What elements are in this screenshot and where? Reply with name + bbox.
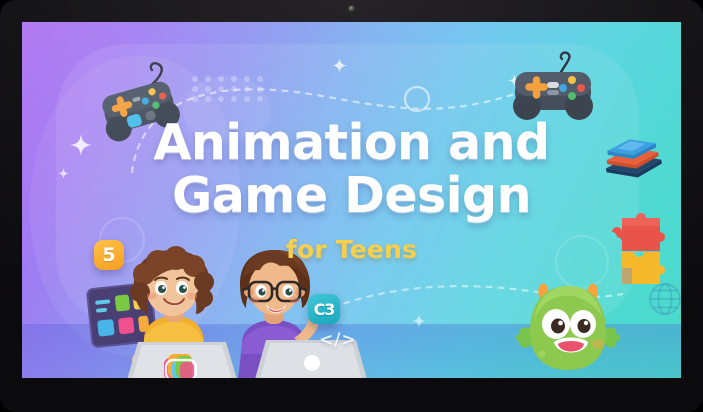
gamepad-icon [505,50,601,132]
books-icon [597,120,669,186]
dot-grid-dot [218,96,224,102]
dot-grid-dot [244,96,250,102]
green-monster-icon [514,274,622,378]
dot-grid-decoration [192,76,268,102]
dot-grid-dot [218,76,224,82]
monitor-screen: 5 C3 </> Animation and Game Design for T… [22,22,681,378]
construct3-badge-label: C3 [314,300,335,319]
dot-grid-dot [205,96,211,102]
construct3-badge: C3 [308,294,340,324]
laptop-left [122,340,242,378]
html5-badge: 5 [94,240,124,270]
dot-grid-dot [192,96,198,102]
dot-grid-dot [192,86,198,92]
dot-grid-dot [231,86,237,92]
code-brackets-icon: </> [319,330,357,350]
dot-grid-dot [231,76,237,82]
webcam-dot-icon [349,6,354,11]
dot-grid-dot [218,86,224,92]
globe-wireframe-icon [646,280,681,322]
monitor-device: 5 C3 </> Animation and Game Design for T… [0,0,703,412]
html5-badge-label: 5 [102,244,115,266]
dot-grid-dot [244,76,250,82]
dot-grid-dot [257,86,263,92]
dot-grid-dot [192,76,198,82]
dot-grid-dot [257,96,263,102]
gamepad-icon [94,56,184,146]
dot-grid-dot [205,76,211,82]
dot-grid-dot [231,96,237,102]
dot-grid-dot [205,86,211,92]
dot-grid-dot [257,76,263,82]
dot-grid-dot [244,86,250,92]
